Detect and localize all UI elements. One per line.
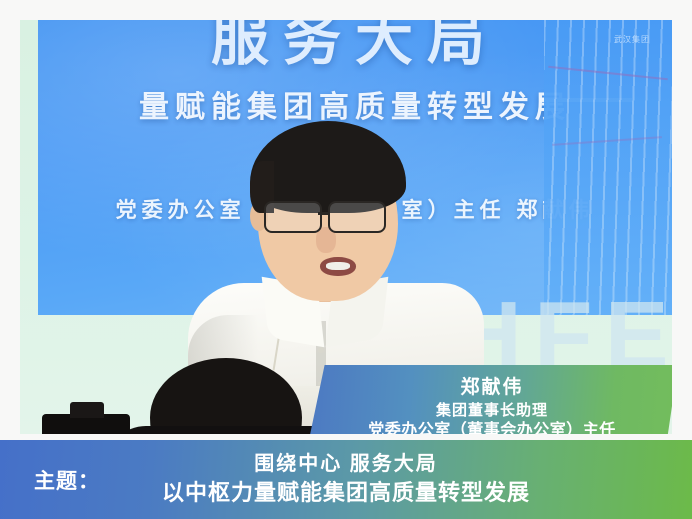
glasses-icon [262, 201, 394, 231]
theme-text-group: 围绕中心 服务大局 以中枢力量赋能集团高质量转型发展 [0, 440, 692, 519]
theme-bar: 主题： 围绕中心 服务大局 以中枢力量赋能集团高质量转型发展 [0, 440, 692, 519]
speaker-title: 党委办公室（董事会办公室）主任 [368, 421, 616, 434]
glasses-lens-left [264, 201, 322, 233]
speaker-teeth [326, 262, 350, 270]
glasses-bridge [318, 212, 330, 215]
theme-line-1: 围绕中心 服务大局 [254, 451, 438, 478]
lower-third-name-banner: 郑献伟 集团董事长助理 党委办公室（董事会办公室）主任 [306, 365, 672, 434]
speaker-photo: 服务大局 量赋能集团高质量转型发展 党委办公室（董事会办公室）主任 郑献伟 武汉… [20, 20, 672, 434]
blind-diagonal-line [548, 66, 668, 81]
speaker-role: 集团董事长助理 [436, 401, 548, 421]
glasses-lens-right [328, 201, 386, 233]
speaker-name: 郑献伟 [460, 377, 523, 399]
camera-equipment-top [70, 402, 104, 418]
shirt-button [318, 347, 324, 353]
theme-line-2: 以中枢力量赋能集团高质量转型发展 [162, 478, 530, 508]
blind-diagonal-line-2 [552, 136, 662, 146]
screen-corner-logo: 武汉集团 [614, 34, 650, 45]
slide-root: 服务大局 量赋能集团高质量转型发展 党委办公室（董事会办公室）主任 郑献伟 武汉… [0, 0, 692, 519]
window-blinds [544, 20, 672, 315]
